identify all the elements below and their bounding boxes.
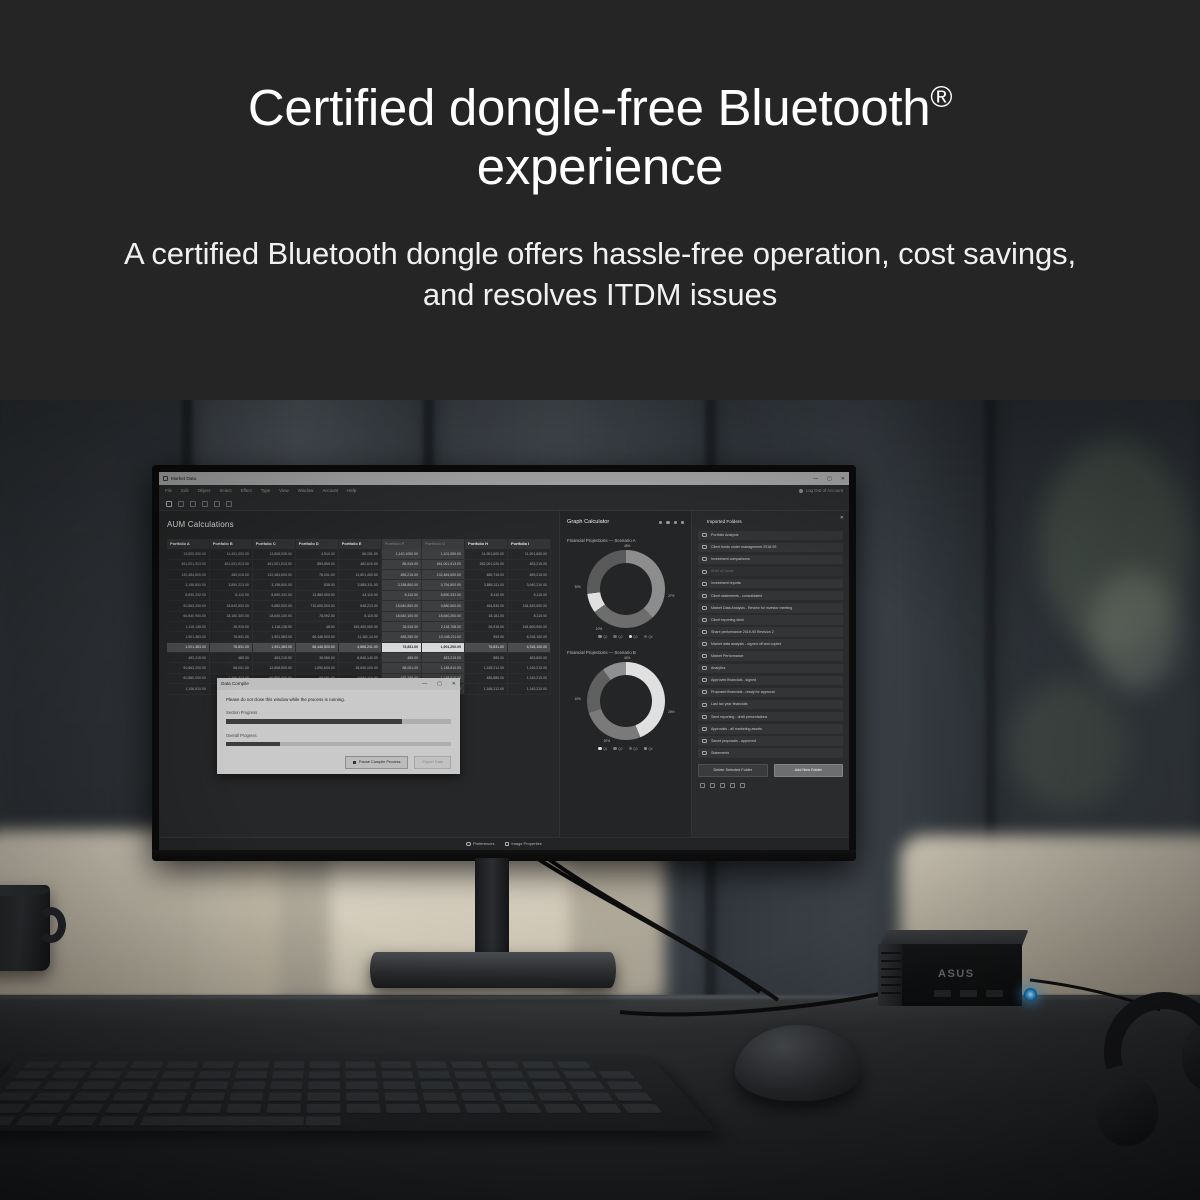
table-cell[interactable]: 3,158,800.00	[252, 580, 295, 590]
keyboard-key[interactable]	[0, 1104, 25, 1113]
donut-chart-b: 44% 26% 20% 10%	[587, 662, 665, 740]
table-cell[interactable]: 76,831.00	[209, 642, 252, 652]
keyboard-key[interactable]	[0, 1092, 34, 1100]
table-row[interactable]: 8,890,332.008,110.008,890,332.0013,880,9…	[167, 590, 551, 600]
keyboard-key[interactable]	[486, 1061, 519, 1068]
table-cell[interactable]: 1,901,383.00	[167, 632, 209, 642]
keyboard-key[interactable]	[606, 1082, 643, 1090]
table-cell[interactable]: 8,890,332.00	[167, 590, 209, 600]
keyboard-key[interactable]	[569, 1082, 606, 1090]
table-cell[interactable]: 1,901,383.00	[252, 632, 295, 642]
folder-list-item[interactable]: Market data analysis - signed off and co…	[698, 639, 843, 649]
keyboard-key[interactable]	[94, 1061, 128, 1068]
keyboard-key[interactable]	[58, 1061, 93, 1068]
table-cell[interactable]: 18,640,800.00	[381, 601, 421, 611]
menu-item-help[interactable]: Help	[347, 488, 356, 493]
table-cell[interactable]: 1,118,138.00	[252, 621, 295, 631]
menu-item-view[interactable]: View	[279, 488, 288, 493]
pause-compile-button[interactable]: Pause Compile Process	[345, 756, 409, 769]
folder-list-item[interactable]: Analytics	[698, 664, 843, 674]
keyboard-key[interactable]	[423, 1092, 458, 1100]
copy-icon[interactable]	[674, 521, 677, 524]
table-cell[interactable]: 3,754,800.00	[422, 580, 465, 590]
table-cell[interactable]: 8,890,332.00	[252, 590, 295, 600]
image-properties-button[interactable]: Image Properties	[505, 842, 542, 847]
table-cell[interactable]: 44,110.00	[338, 590, 381, 600]
table-cell[interactable]: 13,880,900.00	[295, 590, 338, 600]
keyboard-key[interactable]	[346, 1104, 380, 1113]
keyboard-key[interactable]	[386, 1104, 421, 1113]
close-button[interactable]: ✕	[841, 476, 845, 482]
table-cell[interactable]: 18,640,100.00	[338, 663, 381, 673]
table-cell[interactable]: 461,001,913.00	[209, 559, 252, 569]
keyboard-key[interactable]	[526, 1071, 561, 1078]
pen-tool-icon[interactable]	[190, 501, 196, 507]
folder-list-item[interactable]: Client reporting deck	[698, 615, 843, 625]
menu-item-object[interactable]: Object	[198, 488, 211, 493]
table-cell[interactable]: 8,318,100.00	[508, 632, 551, 642]
hand-icon[interactable]	[720, 783, 725, 788]
keyboard-key[interactable]	[232, 1082, 265, 1090]
table-cell[interactable]: 66,446,500.00	[295, 642, 338, 652]
minimize-button[interactable]: —	[813, 476, 818, 482]
export-data-button[interactable]: Export Data	[414, 756, 451, 769]
table-cell[interactable]: 4,318,100.00	[508, 642, 551, 652]
table-cell[interactable]: 66,446,500.00	[295, 632, 338, 642]
table-cell[interactable]: 60,880,000.00	[167, 673, 209, 683]
table-row[interactable]: 1,901,383.0076,831.001,901,383.0066,446,…	[167, 632, 551, 642]
keyboard-key[interactable]	[420, 1082, 454, 1090]
table-cell[interactable]: 489,215.00	[381, 570, 421, 580]
folder-list-item[interactable]: Market Performance	[698, 651, 843, 661]
keyboard-key[interactable]	[5, 1082, 43, 1090]
table-cell[interactable]: 8,110.00	[381, 590, 421, 600]
folder-list-item[interactable]: Proposed financials - ready for approval	[698, 688, 843, 698]
keyboard-key[interactable]	[309, 1061, 339, 1068]
table-cell[interactable]: 164,840.00	[465, 601, 508, 611]
table-row[interactable]: 66,840,900.0018,150,300.0018,640,100.007…	[167, 611, 551, 621]
table-cell[interactable]: 12,808,500.00	[252, 663, 295, 673]
keyboard-key[interactable]	[98, 1116, 137, 1125]
table-cell[interactable]: 648,213.00	[338, 601, 381, 611]
keyboard-key[interactable]	[118, 1082, 154, 1090]
keyboard-key[interactable]	[22, 1061, 58, 1068]
keyboard-key[interactable]	[51, 1071, 87, 1078]
folder-list-item[interactable]: Saved proposals - approved	[698, 736, 843, 746]
keyboard-key[interactable]	[264, 1116, 300, 1125]
folder-list-item[interactable]: Last tax year financials	[698, 700, 843, 710]
keyboard-key[interactable]	[194, 1082, 228, 1090]
keyboard-key[interactable]	[306, 1116, 341, 1125]
table-column-header[interactable]: Portfolio I	[508, 539, 551, 550]
keyboard-key[interactable]	[186, 1104, 222, 1113]
table-cell[interactable]: 710,600,000.00	[295, 601, 338, 611]
keyboard-key[interactable]	[583, 1104, 622, 1113]
keyboard-key[interactable]	[130, 1061, 164, 1068]
keyboard-key[interactable]	[223, 1116, 260, 1125]
table-column-header[interactable]: Portfolio C	[252, 539, 295, 550]
table-cell[interactable]: 38,985.00	[295, 653, 338, 663]
table-cell[interactable]: 4,510.00	[295, 549, 338, 559]
table-row[interactable]: 13,800,900.0011,401,000.0013,808,528.444…	[167, 549, 551, 559]
keyboard-key[interactable]	[238, 1061, 270, 1068]
delete-selected-folder-button[interactable]: Delete Selected Folder	[698, 764, 768, 777]
keyboard-key[interactable]	[383, 1082, 416, 1090]
folder-list-item[interactable]: Share performance 2019-90 Revision 2	[698, 627, 843, 637]
table-cell[interactable]: 1,140,213.00	[508, 684, 551, 694]
keyboard[interactable]	[0, 1056, 716, 1131]
folder-list-item[interactable]: Client statements - consolidated	[698, 591, 843, 601]
table-cell[interactable]: 4,868,241.00	[338, 642, 381, 652]
folder-list-item[interactable]: Market Data Analysis - Review for invest…	[698, 603, 843, 613]
legend-item: Q1	[598, 635, 607, 640]
table-cell[interactable]: 483,215.00	[422, 653, 465, 663]
table-cell[interactable]: 183,400,000.00	[338, 621, 381, 631]
chart-tool-icon[interactable]	[202, 501, 208, 507]
table-cell[interactable]: 3,940,210.00	[508, 580, 551, 590]
table-cell[interactable]: 8,110.00	[465, 590, 508, 600]
table-row[interactable]: 483,215.00485.00483,215.0038,985.008,840…	[167, 653, 551, 663]
table-cell[interactable]: 26,915.00	[381, 621, 421, 631]
folder-list-item[interactable]: Investment reports	[698, 579, 843, 589]
refresh-icon[interactable]	[740, 783, 745, 788]
table-cell[interactable]: 1,101,500.00	[422, 549, 465, 559]
table-cell[interactable]: 78,001.00	[295, 570, 338, 580]
table-cell[interactable]: 8,110.00	[209, 590, 252, 600]
keyboard-key[interactable]	[346, 1092, 379, 1100]
move-icon[interactable]	[700, 783, 705, 788]
keyboard-key[interactable]	[202, 1061, 234, 1068]
folder-list-item[interactable]: Semi reporting - draft presentations	[698, 712, 843, 722]
measure-tool-icon[interactable]	[214, 501, 220, 507]
keyboard-key[interactable]	[464, 1104, 501, 1113]
folder-list-item[interactable]: Approvals - all marketing assets	[698, 724, 843, 734]
dialog-close-button[interactable]: ✕	[452, 681, 456, 687]
pointer-tool-icon[interactable]	[166, 501, 172, 507]
table-cell[interactable]: 3,885,311.00	[338, 580, 381, 590]
table-cell[interactable]: 1,168,212.00	[465, 663, 508, 673]
table-cell[interactable]: 9,880,500.00	[422, 601, 465, 611]
keyboard-key[interactable]	[563, 1071, 599, 1078]
table-cell[interactable]: 3,890,213.00	[209, 580, 252, 590]
keyboard-key[interactable]	[345, 1061, 375, 1068]
keyboard-key[interactable]	[15, 1116, 56, 1125]
settings-icon[interactable]	[659, 521, 662, 524]
maximize-button[interactable]: ▢	[827, 476, 832, 482]
zoom-icon[interactable]	[730, 783, 735, 788]
table-cell[interactable]: 3,158,800.00	[167, 580, 209, 590]
table-cell[interactable]: 9,880,500.00	[252, 601, 295, 611]
menu-item-window[interactable]: Window	[298, 488, 314, 493]
table-cell[interactable]: 3,158,800.00	[381, 580, 421, 590]
table-cell[interactable]: 132,484,600.00	[422, 570, 465, 580]
menu-item-file[interactable]: File	[165, 488, 172, 493]
table-cell[interactable]: 552,001,020.00	[465, 559, 508, 569]
aum-table[interactable]: Portfolio APortfolio BPortfolio CPortfol…	[167, 539, 551, 695]
keyboard-key[interactable]	[0, 1116, 16, 1125]
keyboard-key[interactable]	[266, 1104, 301, 1113]
keyboard-key[interactable]	[537, 1092, 574, 1100]
table-cell[interactable]: 68,001.00	[209, 663, 252, 673]
table-cell[interactable]: 482,615.00	[338, 559, 381, 569]
menu-item-edit[interactable]: Edit	[181, 488, 189, 493]
keyboard-key[interactable]	[557, 1061, 592, 1068]
folder-label: Client statements - consolidated	[711, 594, 762, 598]
table-cell[interactable]: 78,092.00	[295, 611, 338, 621]
table-cell[interactable]: 11,901,600.00	[465, 549, 508, 559]
keyboard-key[interactable]	[65, 1104, 104, 1113]
keyboard-key[interactable]	[229, 1092, 263, 1100]
table-cell[interactable]: 885.00	[465, 653, 508, 663]
table-cell[interactable]: 485,285.00	[381, 632, 421, 642]
table-cell[interactable]: 1,901,200.00	[422, 642, 465, 652]
table-cell[interactable]: 461,001,913.00	[422, 559, 465, 569]
table-cell[interactable]: 483,215.00	[252, 653, 295, 663]
table-cell[interactable]: 10,448,211.00	[422, 632, 465, 642]
trash-icon[interactable]	[681, 521, 684, 524]
keyboard-key[interactable]	[499, 1092, 535, 1100]
legend-swatch	[613, 635, 616, 638]
keyboard-key[interactable]	[308, 1082, 340, 1090]
keyboard-key[interactable]	[416, 1061, 448, 1068]
table-column-header[interactable]: Portfolio B	[209, 539, 252, 550]
table-cell[interactable]: 461,001,913.00	[167, 559, 209, 569]
keyboard-key[interactable]	[380, 1061, 411, 1068]
keyboard-key[interactable]	[614, 1092, 653, 1100]
keyboard-key[interactable]	[161, 1071, 195, 1078]
keyboard-key[interactable]	[425, 1104, 461, 1113]
rectangle-tool-icon[interactable]	[178, 501, 184, 507]
keyboard-key[interactable]	[543, 1104, 581, 1113]
keyboard-key[interactable]	[270, 1082, 303, 1090]
table-cell[interactable]: 1,140,213.00	[508, 663, 551, 673]
table-cell[interactable]: 8,890,332.00	[422, 590, 465, 600]
table-column-header[interactable]: Portfolio A	[167, 539, 209, 550]
keyboard-key[interactable]	[418, 1071, 451, 1078]
table-cell[interactable]: 483,215.00	[508, 559, 551, 569]
table-cell[interactable]: 66,151.00	[338, 549, 381, 559]
table-row[interactable]: 50,863,200.0068,001.0012,808,500.001,890…	[167, 663, 551, 673]
table-column-header[interactable]: Portfolio E	[338, 539, 381, 550]
keyboard-key[interactable]	[156, 1082, 191, 1090]
table-cell[interactable]: 13,808,528.44	[252, 549, 295, 559]
folder-label: Statements	[711, 751, 729, 755]
table-cell[interactable]: 2,118,708.00	[422, 621, 465, 631]
table-cell[interactable]: 18,181.00	[465, 611, 508, 621]
keyboard-key[interactable]	[494, 1082, 529, 1090]
keyboard-key[interactable]	[105, 1104, 143, 1113]
keyboard-key[interactable]	[80, 1082, 116, 1090]
keyboard-key[interactable]	[34, 1092, 72, 1100]
keyboard-key[interactable]	[226, 1104, 261, 1113]
table-cell[interactable]: 1,168,212.00	[465, 684, 508, 694]
account-menu[interactable]: Log Out of Account	[799, 488, 843, 493]
keyboard-key[interactable]	[576, 1092, 614, 1100]
table-cell[interactable]: 1,118,138.00	[167, 621, 209, 631]
folder-list-item[interactable]: AUM all funds	[698, 567, 843, 577]
chart-icon[interactable]	[710, 783, 715, 788]
keyboard-key[interactable]	[112, 1092, 149, 1100]
table-cell[interactable]: 132,484,600.00	[252, 570, 295, 580]
keyboard-key[interactable]	[451, 1061, 483, 1068]
keyboard-key[interactable]	[346, 1082, 378, 1090]
dialog-maximize-button[interactable]: ▢	[437, 681, 442, 687]
keyboard-key[interactable]	[490, 1071, 524, 1078]
keyboard-key[interactable]	[382, 1071, 414, 1078]
table-cell[interactable]: 1,106,610.00	[167, 684, 209, 694]
menu-item-select[interactable]: Select	[219, 488, 231, 493]
table-cell[interactable]: 1,148,810.00	[422, 663, 465, 673]
table-cell[interactable]: 18,640,800.00	[209, 601, 252, 611]
keyboard-key[interactable]	[268, 1092, 302, 1100]
keyboard-key[interactable]	[146, 1104, 183, 1113]
table-cell[interactable]: 486,885.00	[465, 673, 508, 683]
keyboard-key[interactable]	[42, 1082, 79, 1090]
folder-list-item[interactable]: Statements	[698, 748, 843, 758]
keyboard-key[interactable]	[274, 1061, 305, 1068]
menu-item-type[interactable]: Type	[261, 488, 271, 493]
table-cell[interactable]: 18,150,300.00	[209, 611, 252, 621]
keyboard-key[interactable]	[198, 1071, 231, 1078]
table-cell[interactable]: 48.00	[295, 621, 338, 631]
keyboard-key[interactable]	[14, 1071, 51, 1078]
table-cell[interactable]: 1,140,213.00	[508, 673, 551, 683]
data-compile-dialog[interactable]: Data Compile — ▢ ✕ Please do not close t…	[217, 678, 460, 774]
donut-b-label-3: 10%	[575, 698, 581, 702]
table-cell[interactable]: 76,831.00	[209, 632, 252, 642]
table-cell[interactable]: 483,800.00	[508, 653, 551, 663]
table-cell[interactable]: 461,001,913.00	[252, 559, 295, 569]
table-cell[interactable]: 489,215.00	[508, 570, 551, 580]
add-new-folder-button[interactable]: Add New Folder	[774, 764, 844, 777]
keyboard-key[interactable]	[345, 1071, 376, 1078]
table-cell[interactable]: 1,140,1000.00	[381, 549, 421, 559]
keyboard-key[interactable]	[235, 1071, 267, 1078]
table-cell[interactable]: 485,015.00	[209, 570, 252, 580]
keyboard-key[interactable]	[87, 1071, 122, 1078]
power-led-indicator[interactable]	[1024, 988, 1037, 1001]
table-cell[interactable]: 11,901,600.00	[508, 549, 551, 559]
keyboard-key[interactable]	[151, 1092, 187, 1100]
table-cell[interactable]: 11,181,14.00	[338, 632, 381, 642]
table-cell[interactable]: 11,801,400.00	[338, 570, 381, 580]
table-cell[interactable]: 485.00	[209, 653, 252, 663]
keyboard-key[interactable]	[166, 1061, 199, 1068]
table-cell[interactable]: 50,863,200.00	[167, 663, 209, 673]
menu-item-account[interactable]: Account	[322, 488, 338, 493]
folder-list-item[interactable]: Client funds under management 2018-99	[698, 543, 843, 553]
table-row[interactable]: 1,118,138.0026,915.001,118,138.0048.0018…	[167, 621, 551, 631]
donut-a-label-1: 27%	[668, 595, 674, 599]
keyboard-key[interactable]	[73, 1092, 111, 1100]
keyboard-key[interactable]	[309, 1071, 340, 1078]
keyboard-key[interactable]	[461, 1092, 497, 1100]
folder-list-item[interactable]: Approved financials - signed	[698, 676, 843, 686]
keyboard-key[interactable]	[25, 1104, 65, 1113]
table-row[interactable]: 1,901,383.0076,831.001,901,383.0066,446,…	[167, 642, 551, 652]
folder-icon	[702, 739, 707, 743]
table-cell[interactable]: 8,110.00	[338, 611, 381, 621]
table-cell[interactable]: 483,215.00	[167, 653, 209, 663]
table-column-header[interactable]: Portfolio D	[295, 539, 338, 550]
keyboard-key[interactable]	[454, 1071, 487, 1078]
donut-b-label-0: 44%	[624, 657, 630, 661]
table-cell[interactable]: 164,840,000.00	[508, 601, 551, 611]
table-cell[interactable]: 13,800,900.00	[167, 549, 209, 559]
table-row[interactable]: 3,158,800.003,890,213.003,158,800.00838.…	[167, 580, 551, 590]
table-cell[interactable]: 26,915.00	[209, 621, 252, 631]
keyboard-key[interactable]	[599, 1071, 635, 1078]
keyboard-key[interactable]	[307, 1092, 340, 1100]
keyboard-key[interactable]	[622, 1104, 662, 1113]
table-cell[interactable]: 132,484,600.00	[167, 570, 209, 580]
table-cell[interactable]: 18,640,100.00	[252, 611, 295, 621]
keyboard-key[interactable]	[181, 1116, 219, 1125]
keyboard-key[interactable]	[532, 1082, 568, 1090]
table-row[interactable]: 461,001,913.00461,001,913.00461,001,913.…	[167, 559, 551, 569]
table-cell[interactable]: 8,110.00	[508, 590, 551, 600]
table-cell[interactable]: 164,800,000.00	[508, 621, 551, 631]
table-cell[interactable]: 1,890,600.00	[295, 663, 338, 673]
table-cell[interactable]: 889,855.00	[295, 559, 338, 569]
table-cell[interactable]: 68,001.00	[381, 663, 421, 673]
table-cell[interactable]: 8,840,140.00	[338, 653, 381, 663]
crop-tool-icon[interactable]	[226, 501, 232, 507]
preferences-button[interactable]: Preferences	[466, 842, 494, 847]
table-cell[interactable]: 3,885,311.00	[465, 580, 508, 590]
table-column-header[interactable]: Portfolio G	[422, 539, 465, 550]
panel-close-icon[interactable]: ✕	[840, 515, 844, 521]
keyboard-key[interactable]	[190, 1092, 225, 1100]
folder-list[interactable]: Portfolio AnalysisClient funds under man…	[698, 531, 843, 758]
table-cell[interactable]: 18,640,100.00	[381, 611, 421, 621]
table-cell[interactable]: 485,715.00	[465, 570, 508, 580]
table-cell[interactable]: 76,831.00	[465, 642, 508, 652]
menu-item-effect[interactable]: Effect	[241, 488, 252, 493]
folder-list-item[interactable]: Portfolio Analysis	[698, 531, 843, 541]
folder-list-item[interactable]: Investment comparisons	[698, 555, 843, 565]
table-cell[interactable]: 86,915.00	[381, 559, 421, 569]
dialog-minimize-button[interactable]: —	[422, 681, 427, 687]
table-row[interactable]: 50,863,200.0018,640,800.009,880,500.0071…	[167, 601, 551, 611]
keyboard-key[interactable]	[272, 1071, 304, 1078]
table-cell[interactable]: 50,863,200.00	[167, 601, 209, 611]
table-cell[interactable]: 8,110.00	[508, 611, 551, 621]
table-row[interactable]: 132,484,600.00485,015.00132,484,600.0078…	[167, 570, 551, 580]
filter-icon[interactable]	[666, 521, 669, 524]
keyboard-key[interactable]	[57, 1116, 97, 1125]
table-column-header[interactable]: Portfolio F	[381, 539, 421, 550]
table-cell[interactable]: 18,640,200.00	[422, 611, 465, 621]
keyboard-key[interactable]	[124, 1071, 159, 1078]
table-column-header[interactable]: Portfolio H	[465, 539, 508, 550]
table-cell[interactable]: 838.00	[295, 580, 338, 590]
table-cell[interactable]: 11,401,000.00	[209, 549, 252, 559]
logout-label[interactable]: Log Out of Account	[806, 488, 843, 493]
table-cell[interactable]: 26,915.00	[465, 621, 508, 631]
table-cell[interactable]: 953.00	[465, 632, 508, 642]
keyboard-key[interactable]	[504, 1104, 542, 1113]
table-cell[interactable]: 485.00	[381, 653, 421, 663]
keyboard-key[interactable]	[457, 1082, 491, 1090]
table-cell[interactable]: 1,901,383.00	[167, 642, 209, 652]
keyboard-key[interactable]	[306, 1104, 340, 1113]
table-cell[interactable]: 1,901,383.00	[252, 642, 295, 652]
table-cell[interactable]: 73,831.00	[381, 642, 421, 652]
keyboard-key[interactable]	[521, 1061, 555, 1068]
table-cell[interactable]: 66,840,900.00	[167, 611, 209, 621]
keyboard-key[interactable]	[384, 1092, 418, 1100]
